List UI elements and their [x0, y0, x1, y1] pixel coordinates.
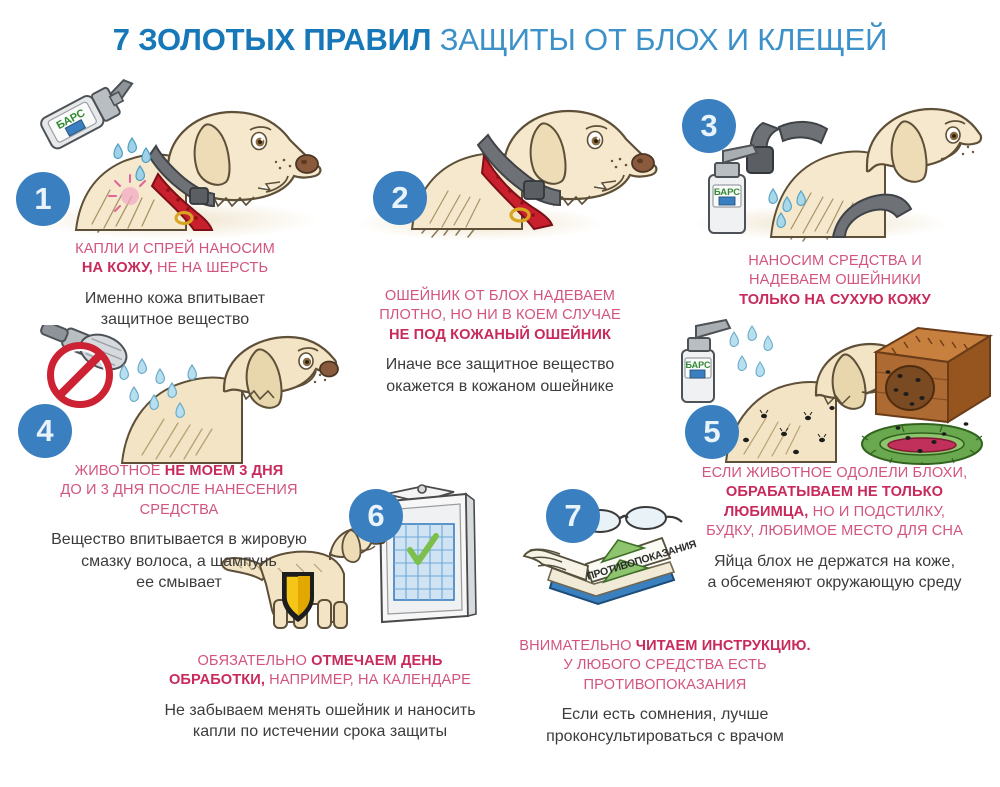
headline-line-2-bold: ОБРАБОТКИ, [169, 672, 265, 688]
svg-text:БАРС: БАРС [714, 187, 740, 198]
headline-rule-2: ОШЕЙНИК ОТ БЛОХ НАДЕВАЕМ ПЛОТНО, НО НИ В… [340, 287, 660, 345]
headline-line-2-bold: ОБРАБАТЫВАЕМ НЕ ТОЛЬКО [726, 484, 943, 500]
body-line-1: Иначе все защитное вещество [340, 354, 660, 375]
badge-number-1: 1 [34, 181, 51, 217]
headline-line-2: У ЛЮБОГО СРЕДСТВА ЕСТЬ [563, 657, 766, 673]
body-rule-4: Вещество впитывается в жировую смазку во… [14, 529, 344, 593]
headline-line-3-bold: ТОЛЬКО НА СУХУЮ КОЖУ [739, 292, 931, 308]
body-line-2: а обсеменяют окружающую среду [672, 572, 997, 593]
headline-rule-4: ЖИВОТНОЕ НЕ МОЕМ 3 ДНЯ ДО И 3 ДНЯ ПОСЛЕ … [14, 462, 344, 520]
body-line-3: ее смывает [14, 572, 344, 593]
headline-line-2-bold: НА КОЖУ, [82, 260, 153, 276]
headline-line-1-bold: ЧИТАЕМ ИНСТРУКЦИЮ. [636, 638, 811, 654]
body-line-1: Именно кожа впитывает [10, 288, 340, 309]
badge-rule-3: 3 [682, 99, 736, 153]
body-line-2: капли по истечении срока защиты [135, 721, 505, 742]
badge-rule-1: 1 [16, 172, 70, 226]
illustration-dog-head-with-spray-bottle: БАРС [18, 78, 338, 238]
text-block-rule-1: КАПЛИ И СПРЕЙ НАНОСИМ НА КОЖУ, НЕ НА ШЕР… [10, 240, 340, 331]
badge-rule-4: 4 [18, 404, 72, 458]
body-line-2: окажется в кожаном ошейнике [340, 376, 660, 397]
text-block-rule-2: ОШЕЙНИК ОТ БЛОХ НАДЕВАЕМ ПЛОТНО, НО НИ В… [340, 287, 660, 397]
headline-line-3: СРЕДСТВА [140, 502, 219, 518]
text-block-rule-3: НАНОСИМ СРЕДСТВА И НАДЕВАЕМ ОШЕЙНИКИ ТОЛ… [675, 252, 995, 310]
badge-rule-5: 5 [685, 405, 739, 459]
badge-number-6: 6 [367, 498, 384, 534]
headline-rule-1: КАПЛИ И СПРЕЙ НАНОСИМ НА КОЖУ, НЕ НА ШЕР… [10, 240, 340, 279]
headline-line-2: ДО И 3 ДНЯ ПОСЛЕ НАНЕСЕНИЯ [60, 482, 297, 498]
body-line-1: Яйца блох не держатся на коже, [672, 551, 997, 572]
body-line-1: Вещество впитывается в жировую [14, 529, 344, 550]
badge-rule-2: 2 [373, 171, 427, 225]
headline-line-3-bold: ЛЮБИМЦА, [724, 504, 808, 520]
body-rule-5: Яйца блох не держатся на коже, а обсемен… [672, 551, 997, 594]
headline-rule-5: ЕСЛИ ЖИВОТНОЕ ОДОЛЕЛИ БЛОХИ, ОБРАБАТЫВАЕ… [672, 464, 997, 542]
body-rule-6: Не забываем менять ошейник и наносить ка… [135, 700, 505, 743]
headline-line-4: БУДКУ, ЛЮБИМОЕ МЕСТО ДЛЯ СНА [706, 523, 963, 539]
body-rule-7: Если есть сомнения, лучше проконсультиро… [500, 704, 830, 747]
infographic-poster: 7 ЗОЛОТЫХ ПРАВИЛ ЗАЩИТЫ ОТ БЛОХ И КЛЕЩЕЙ [0, 0, 1000, 787]
headline-line-1-plain: ВНИМАТЕЛЬНО [519, 638, 635, 654]
headline-line-2: ПЛОТНО, НО НИ В КОЕМ СЛУЧАЕ [379, 307, 621, 323]
headline-line-1: НАНОСИМ СРЕДСТВА И [748, 253, 922, 269]
body-rule-1: Именно кожа впитывает защитное вещество [10, 288, 340, 331]
headline-line-2-rest: НЕ НА ШЕРСТЬ [153, 260, 268, 276]
body-line-2: защитное вещество [10, 309, 340, 330]
text-block-rule-4: ЖИВОТНОЕ НЕ МОЕМ 3 ДНЯ ДО И 3 ДНЯ ПОСЛЕ … [14, 462, 344, 594]
body-line-1: Если есть сомнения, лучше [500, 704, 830, 725]
badge-rule-6: 6 [349, 489, 403, 543]
badge-rule-7: 7 [546, 489, 600, 543]
text-block-rule-7: ВНИМАТЕЛЬНО ЧИТАЕМ ИНСТРУКЦИЮ. У ЛЮБОГО … [500, 637, 830, 747]
badge-number-3: 3 [700, 108, 717, 144]
headline-rule-6: ОБЯЗАТЕЛЬНО ОТМЕЧАЕМ ДЕНЬ ОБРАБОТКИ, НАП… [135, 652, 505, 691]
badge-number-4: 4 [36, 413, 53, 449]
svg-text:БАРС: БАРС [686, 360, 711, 370]
badge-number-5: 5 [703, 414, 720, 450]
body-rule-2: Иначе все защитное вещество окажется в к… [340, 354, 660, 397]
headline-line-1: ОШЕЙНИК ОТ БЛОХ НАДЕВАЕМ [385, 288, 615, 304]
headline-line-1-bold: НЕ МОЕМ 3 ДНЯ [165, 463, 284, 479]
badge-number-2: 2 [391, 180, 408, 216]
body-line-2: проконсультироваться с врачом [500, 726, 830, 747]
headline-line-3-rest: НО И ПОДСТИЛКУ, [808, 504, 945, 520]
text-block-rule-6: ОБЯЗАТЕЛЬНО ОТМЕЧАЕМ ДЕНЬ ОБРАБОТКИ, НАП… [135, 652, 505, 743]
illustration-dog-head-two-collars [400, 95, 670, 240]
headline-line-1-plain: ОБЯЗАТЕЛЬНО [197, 653, 311, 669]
badge-number-7: 7 [564, 498, 581, 534]
text-block-rule-5: ЕСЛИ ЖИВОТНОЕ ОДОЛЕЛИ БЛОХИ, ОБРАБАТЫВАЕ… [672, 464, 997, 594]
headline-line-1: ЕСЛИ ЖИВОТНОЕ ОДОЛЕЛИ БЛОХИ, [702, 465, 968, 481]
title-light-part: ЗАЩИТЫ ОТ БЛОХ И КЛЕЩЕЙ [440, 22, 888, 57]
illustration-wet-dog-no-washing [30, 325, 350, 465]
page-title: 7 ЗОЛОТЫХ ПРАВИЛ ЗАЩИТЫ ОТ БЛОХ И КЛЕЩЕЙ [0, 22, 1000, 58]
headline-line-2: НАДЕВАЕМ ОШЕЙНИКИ [749, 272, 921, 288]
headline-rule-3: НАНОСИМ СРЕДСТВА И НАДЕВАЕМ ОШЕЙНИКИ ТОЛ… [675, 252, 995, 310]
headline-line-1-plain: ЖИВОТНОЕ [75, 463, 165, 479]
headline-rule-7: ВНИМАТЕЛЬНО ЧИТАЕМ ИНСТРУКЦИЮ. У ЛЮБОГО … [500, 637, 830, 695]
body-line-1: Не забываем менять ошейник и наносить [135, 700, 505, 721]
title-bold-part: 7 ЗОЛОТЫХ ПРАВИЛ [113, 22, 432, 57]
headline-line-2-rest: НАПРИМЕР, НА КАЛЕНДАРЕ [265, 672, 471, 688]
headline-line-3-bold: НЕ ПОД КОЖАНЫЙ ОШЕЙНИК [389, 327, 611, 343]
headline-line-1-bold: ОТМЕЧАЕМ ДЕНЬ [311, 653, 442, 669]
headline-line-1: КАПЛИ И СПРЕЙ НАНОСИМ [75, 241, 275, 257]
body-line-2: смазку волоса, а шампунь [14, 551, 344, 572]
headline-line-3: ПРОТИВОПОКАЗАНИЯ [584, 677, 747, 693]
